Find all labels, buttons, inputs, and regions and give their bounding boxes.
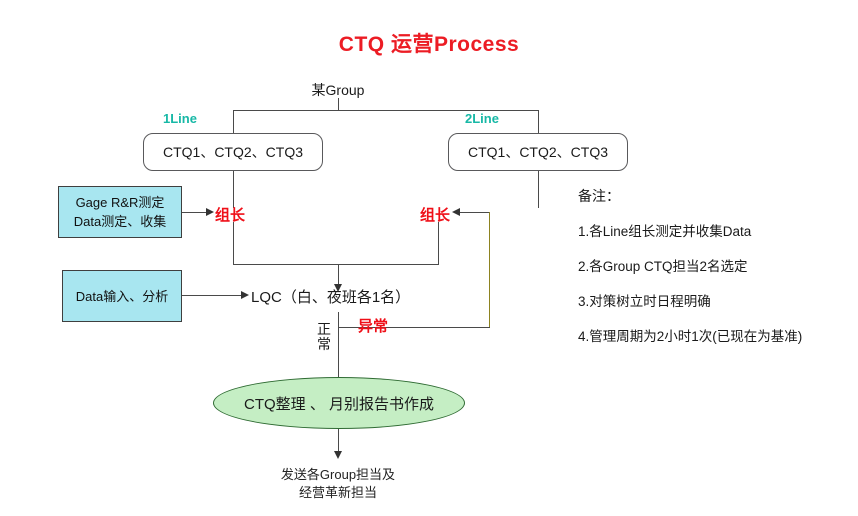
line-label-left: 1Line — [163, 111, 197, 126]
page-title: CTQ 运营Process — [0, 28, 858, 58]
connector-feedback-vertical — [489, 212, 490, 327]
connector-bus-drop-right — [538, 110, 539, 133]
connector-merge-to-lqc — [338, 264, 339, 286]
branch-label-normal: 正常 — [316, 322, 332, 352]
data-input-label: Data输入、分析 — [76, 287, 168, 306]
connector-leader-right-down — [438, 222, 439, 264]
connector-feedback-into-leader — [460, 212, 490, 213]
notes-panel: 备注： 1.各Line组长测定并收集Data 2.各Group CTQ担当2名选… — [578, 186, 856, 360]
connector-ctq-left-to-leader — [233, 171, 234, 208]
note-item: 4.管理周期为2小时1次(已现在为基准) — [578, 325, 856, 345]
connector-leaders-merge — [233, 264, 439, 265]
connector-data-to-lqc — [182, 295, 242, 296]
note-item: 2.各Group CTQ担当2名选定 — [578, 255, 856, 275]
connector-gage-to-leader — [182, 212, 207, 213]
gage-rr-line-2: Data测定、收集 — [74, 212, 166, 231]
connector-lqc-down — [338, 312, 339, 384]
report-ellipse[interactable]: CTQ整理 、 月别报告书作成 — [213, 377, 465, 429]
ctq-box-right[interactable]: CTQ1、CTQ2、CTQ3 — [448, 133, 628, 171]
arrowhead-feedback-to-leader — [452, 208, 460, 216]
note-item: 3.对策树立时日程明确 — [578, 290, 856, 310]
connector-bus-drop-left — [233, 110, 234, 133]
arrowhead-gage-to-leader — [206, 208, 214, 216]
data-input-box[interactable]: Data输入、分析 — [62, 270, 182, 322]
lqc-label: LQC（白、夜班各1名） — [251, 286, 410, 307]
arrowhead-data-to-lqc — [241, 291, 249, 299]
line-label-right: 2Line — [465, 111, 499, 126]
connector-leader-left-down — [233, 222, 234, 264]
leader-label-left: 组长 — [215, 204, 245, 225]
connector-ctq-right-to-leader — [538, 171, 539, 208]
diagram-canvas: CTQ 运营Process 某Group 1Line 2Line CTQ1、CT… — [0, 0, 858, 516]
connector-group-stub — [338, 98, 339, 110]
leader-label-right: 组长 — [420, 204, 450, 225]
note-item: 1.各Line组长测定并收集Data — [578, 220, 856, 240]
arrowhead-to-send — [334, 451, 342, 459]
notes-heading: 备注： — [578, 186, 856, 206]
branch-label-abnormal: 异常 — [358, 315, 388, 336]
send-line-1: 发送各Group担当及 — [238, 464, 438, 483]
send-line-2: 经营革新担当 — [238, 482, 438, 501]
gage-rr-box[interactable]: Gage R&R测定 Data测定、收集 — [58, 186, 182, 238]
group-label: 某Group — [258, 80, 418, 100]
ctq-box-left[interactable]: CTQ1、CTQ2、CTQ3 — [143, 133, 323, 171]
gage-rr-line-1: Gage R&R测定 — [76, 193, 165, 212]
